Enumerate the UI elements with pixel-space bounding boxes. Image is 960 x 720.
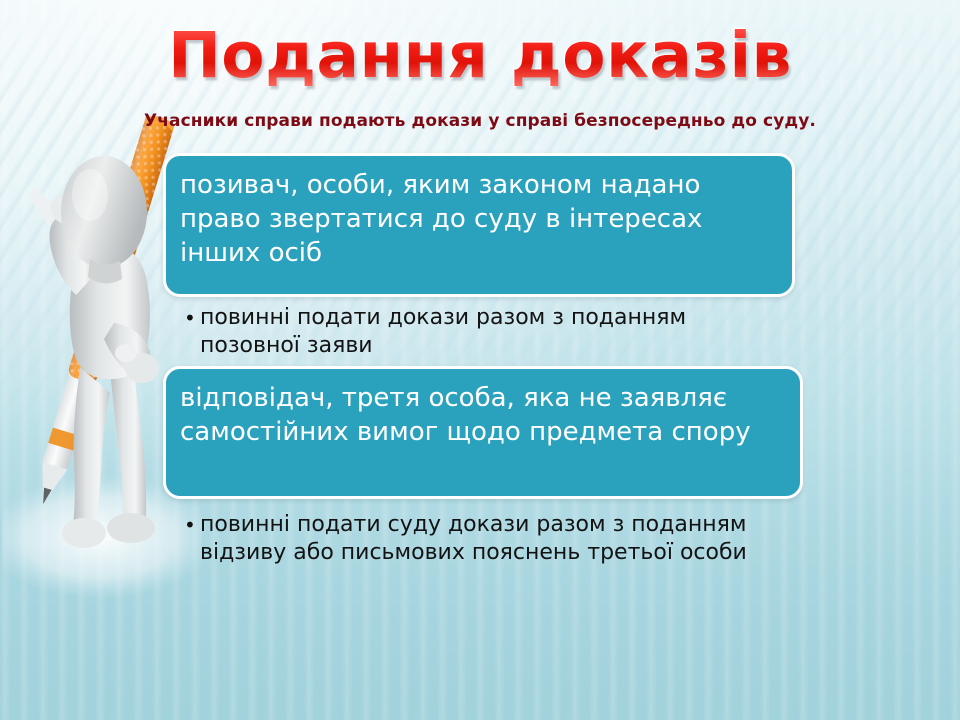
bullet-dot-icon: • <box>184 304 200 332</box>
page-subtitle: Учасники справи подають докази у справі … <box>0 111 960 131</box>
slide-canvas: Подання доказів Подання доказів Учасники… <box>0 0 960 720</box>
bullet-dot-icon: • <box>184 511 200 539</box>
bullet-text-plaintiff: повинні подати докази разом з поданням п… <box>200 304 784 360</box>
content-box-defendant: відповідач, третя особа, яка не заявляє … <box>163 366 803 499</box>
bullet-item-defendant: • повинні подати суду докази разом з под… <box>184 511 824 567</box>
bullet-text-defendant: повинні подати суду докази разом з подан… <box>200 511 824 567</box>
page-title: Подання доказів <box>0 24 960 87</box>
bullet-item-plaintiff: • повинні подати докази разом з поданням… <box>184 304 784 360</box>
content-box-plaintiff: позивач, особи, яким законом надано прав… <box>163 153 795 297</box>
